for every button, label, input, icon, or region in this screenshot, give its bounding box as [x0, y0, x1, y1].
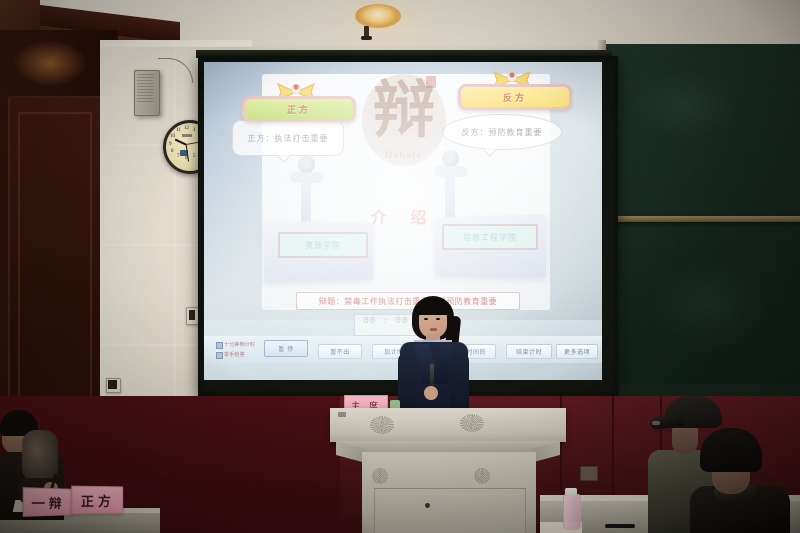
- slide-podium-plate-right: 信息工程学院: [442, 224, 538, 250]
- stop-button-label: 暂不出: [330, 347, 350, 356]
- outlet-socket: [108, 380, 117, 389]
- checkbox-buzzer-label: 举手抢答: [224, 351, 245, 358]
- checkbox-countdown[interactable]: [216, 342, 223, 349]
- clock-numeral: 10: [170, 134, 175, 139]
- clock-numeral: 9: [169, 142, 172, 147]
- outlet-socket: [189, 310, 195, 320]
- chalk-smudge: [650, 260, 770, 350]
- podium-medallion-icon: [460, 414, 484, 432]
- presenter-eye: [424, 318, 428, 320]
- banner-label: 反方: [503, 91, 527, 104]
- audience-front-hair: [700, 428, 762, 472]
- more-options-button[interactable]: 更多选项: [556, 344, 598, 359]
- table-name-card: 一辩: [23, 487, 73, 517]
- chalk-rail: [604, 216, 800, 222]
- speaker-grill: [137, 74, 154, 104]
- end-timer-button-label: 结束计时: [516, 347, 542, 356]
- podium-top: [330, 408, 566, 442]
- water-bottle[interactable]: [563, 494, 581, 530]
- more-options-button-label: 更多选项: [564, 347, 590, 356]
- pause-button-label: 暂 停: [278, 344, 293, 353]
- clock-brand-mark: [182, 134, 192, 137]
- podium-knob[interactable]: [425, 503, 430, 508]
- banner-label: 正方: [287, 103, 311, 116]
- slide-podium-plate-left: 资源学院: [278, 232, 368, 258]
- logo-seal-icon: [426, 76, 436, 88]
- podium-medallion-icon: [372, 468, 388, 484]
- podium-cabinet-door[interactable]: [374, 488, 526, 533]
- presenter-hand: [424, 386, 438, 400]
- ceiling-downlight: [355, 4, 401, 28]
- presenter-eye: [436, 318, 440, 320]
- podium-plate-text: 资源学院: [305, 240, 341, 251]
- air-vent: [580, 466, 598, 481]
- podium-medallion-icon: [370, 416, 394, 434]
- podium-badge: [338, 412, 346, 417]
- clock-numeral: 5: [193, 154, 196, 159]
- speech-bubble-text: 反方：预防教育重要: [462, 127, 543, 138]
- chalk-smudge: [630, 70, 740, 140]
- door-inset: [18, 112, 92, 416]
- pause-button[interactable]: 暂 停: [264, 340, 308, 357]
- table-name-card: 正方: [71, 486, 123, 515]
- podium-plate-text: 信息工程学院: [463, 232, 517, 243]
- debate-logo-subtitle: Debate: [362, 150, 446, 160]
- speech-bubble-negative: 反方：预防教育重要: [442, 114, 562, 150]
- stop-button[interactable]: 暂不出: [318, 344, 362, 359]
- banner-affirmative: 正方: [242, 96, 356, 122]
- sprinkler-head: [361, 36, 372, 40]
- presenter-mouth: [430, 328, 437, 331]
- clock-numeral: 1: [193, 128, 196, 133]
- clock-numeral: 12: [184, 126, 189, 131]
- bottle-cap: [565, 488, 577, 496]
- clock-numeral: 8: [171, 149, 174, 154]
- audience-cap-logo: [652, 421, 660, 425]
- end-timer-button[interactable]: 结束计时: [506, 344, 552, 359]
- speech-bubble-text: 正方：执法打击重要: [248, 133, 329, 144]
- judge-left-fur-collar: [22, 430, 58, 482]
- clock-numeral: 11: [176, 128, 181, 133]
- door-light-reflection: [14, 40, 86, 86]
- presenter-hair-front: [415, 298, 451, 315]
- table-name-card-text: 正方: [81, 490, 115, 509]
- podium-medallion-icon: [474, 468, 490, 484]
- pen-icon: [605, 524, 635, 528]
- checkbox-buzzer[interactable]: [216, 352, 223, 359]
- banner-negative: 反方: [458, 84, 572, 110]
- photo-scene: 12 1 2 3 4 5 6 7 8 9 10 11 << >>: [0, 0, 800, 533]
- checkbox-countdown-label: 十分钟倒计时: [224, 341, 255, 348]
- table-name-card-text: 一辩: [31, 492, 65, 512]
